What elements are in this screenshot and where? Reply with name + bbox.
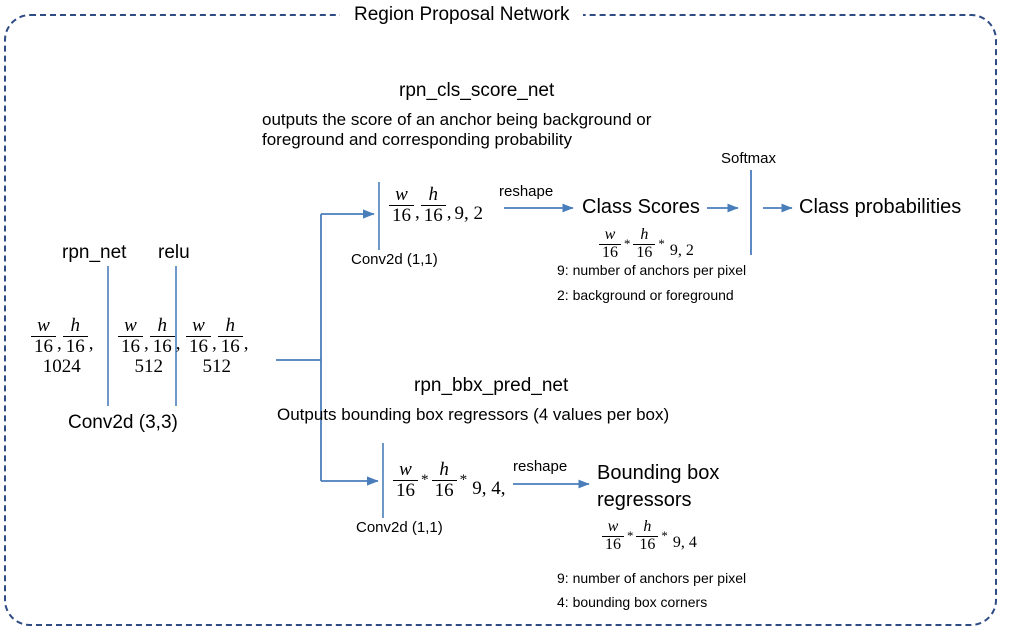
cls-out-tail: 9, 2 (667, 242, 694, 261)
bbx-tensor-tail: 9, 4, (469, 478, 505, 501)
bbx-out-op2: * (659, 529, 669, 544)
stage1-w-num: w (121, 316, 140, 336)
bbx-net-description: Outputs bounding box regressors (4 value… (277, 405, 669, 425)
bbx-out-op1: * (625, 529, 635, 544)
bbx-tensor-w-num: w (396, 460, 415, 480)
label-rpn-net: rpn_net (62, 242, 126, 264)
stage2-w-num: w (189, 316, 208, 336)
cls-out-op1: * (622, 237, 632, 252)
label-relu: relu (158, 242, 190, 264)
cls-tensor-tail: 9, 2 (452, 203, 484, 226)
cls-reshape-label: reshape (499, 183, 553, 201)
stage0-channels: 1024 (43, 356, 81, 378)
cls-conv-label: Conv2d (1,1) (351, 251, 438, 269)
bbx-note-anchors: 9: number of anchors per pixel (557, 570, 746, 587)
class-scores-shape: w 16 * h 16 * 9, 2 (598, 226, 694, 261)
stage1-h-num: h (155, 316, 171, 336)
bbx-tensor-op1: * (419, 471, 431, 489)
stage2-w-den: 16 (186, 336, 211, 357)
cls-out-op2: * (656, 237, 666, 252)
stage2-channels: 512 (203, 356, 232, 378)
bbx-tensor-h-num: h (436, 460, 452, 480)
cls-out-w-den: 16 (599, 244, 621, 262)
cls-note-anchors: 9: number of anchors per pixel (557, 262, 746, 279)
cls-out-h-num: h (637, 227, 651, 244)
rpn-diagram: Region Proposal Network (0, 0, 1011, 637)
bbx-out-w-num: w (605, 519, 622, 536)
bbx-output-title-line1: Bounding box (597, 462, 719, 486)
stage2-h-num: h (223, 316, 239, 336)
cls-conv-tensor-shape: w 16 , h 16 , 9, 2 (388, 185, 483, 226)
backbone-stage-1: w 16 , h 16 , 512 (117, 316, 181, 378)
cls-net-name: rpn_cls_score_net (399, 80, 554, 102)
stage2-h-den: 16 (218, 336, 243, 357)
backbone-stage-2: w 16 , h 16 , 512 (185, 316, 249, 378)
stage0-h-den: 16 (63, 336, 88, 357)
stage1-channels: 512 (135, 356, 164, 378)
bbx-tensor-op2: * (458, 471, 470, 489)
bbx-tensor-w-den: 16 (393, 480, 418, 501)
stage0-w-den: 16 (31, 336, 56, 357)
bbx-conv-tensor-shape: w 16 * h 16 * 9, 4, (392, 460, 505, 501)
bbx-reshape-label: reshape (513, 458, 567, 476)
stage1-w-den: 16 (118, 336, 143, 357)
bbx-out-tail: 9, 4 (670, 534, 697, 553)
bbx-out-h-num: h (640, 519, 654, 536)
class-probabilities-output: Class probabilities (799, 196, 961, 220)
cls-note-classes: 2: background or foreground (557, 287, 734, 304)
bbx-note-corners: 4: bounding box corners (557, 594, 707, 611)
bbx-out-w-den: 16 (602, 536, 624, 554)
cls-out-w-num: w (602, 227, 619, 244)
class-scores-title: Class Scores (582, 196, 700, 220)
bbx-net-name: rpn_bbx_pred_net (414, 375, 568, 397)
bbx-output-title-line2: regressors (597, 489, 691, 513)
diagram-title: Region Proposal Network (340, 4, 583, 26)
cls-net-description: outputs the score of an anchor being bac… (262, 110, 722, 150)
stage0-h-num: h (68, 316, 84, 336)
stage1-h-den: 16 (150, 336, 175, 357)
bbx-tensor-h-den: 16 (432, 480, 457, 501)
cls-tensor-h-den: 16 (421, 205, 446, 226)
bbx-conv-label: Conv2d (1,1) (356, 519, 443, 537)
cls-tensor-h-num: h (426, 185, 442, 205)
label-conv2d-3x3: Conv2d (3,3) (68, 412, 178, 434)
cls-tensor-w-den: 16 (389, 205, 414, 226)
softmax-label: Softmax (721, 150, 776, 168)
stage0-w-num: w (34, 316, 53, 336)
backbone-stage-0: w 16 , h 16 , 1024 (30, 316, 94, 378)
bbx-out-h-den: 16 (636, 536, 658, 554)
cls-tensor-w-num: w (392, 185, 411, 205)
bbx-output-shape: w 16 * h 16 * 9, 4 (601, 518, 697, 553)
cls-out-h-den: 16 (633, 244, 655, 262)
